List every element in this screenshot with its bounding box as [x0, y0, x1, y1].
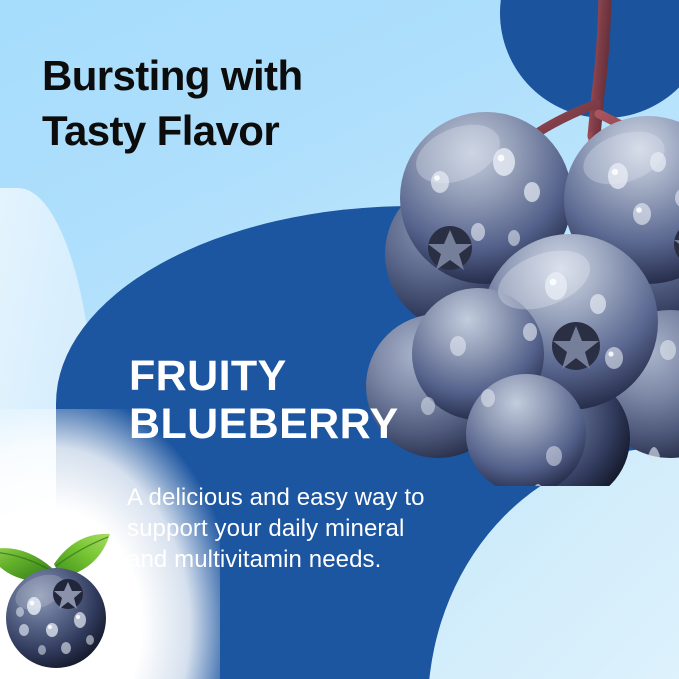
description-line-1: A delicious and easy way to: [127, 482, 467, 513]
product-title: FRUITY BLUEBERRY: [129, 352, 459, 448]
description-line-3: and multivitamin needs.: [127, 544, 467, 575]
product-title-line-1: FRUITY: [129, 352, 459, 400]
product-description: A delicious and easy way to support your…: [127, 482, 467, 575]
product-title-line-2: BLUEBERRY: [129, 400, 459, 448]
description-line-2: support your daily mineral: [127, 513, 467, 544]
banner-canvas: Bursting with Tasty Flavor FRUITY BLUEBE…: [0, 0, 679, 679]
headline-line-1: Bursting with: [42, 48, 462, 103]
single-blueberry-image: [0, 520, 144, 670]
page-title: Bursting with Tasty Flavor: [42, 48, 462, 158]
headline-line-2: Tasty Flavor: [42, 103, 462, 158]
blueberry-with-leaves-icon: [0, 520, 144, 670]
